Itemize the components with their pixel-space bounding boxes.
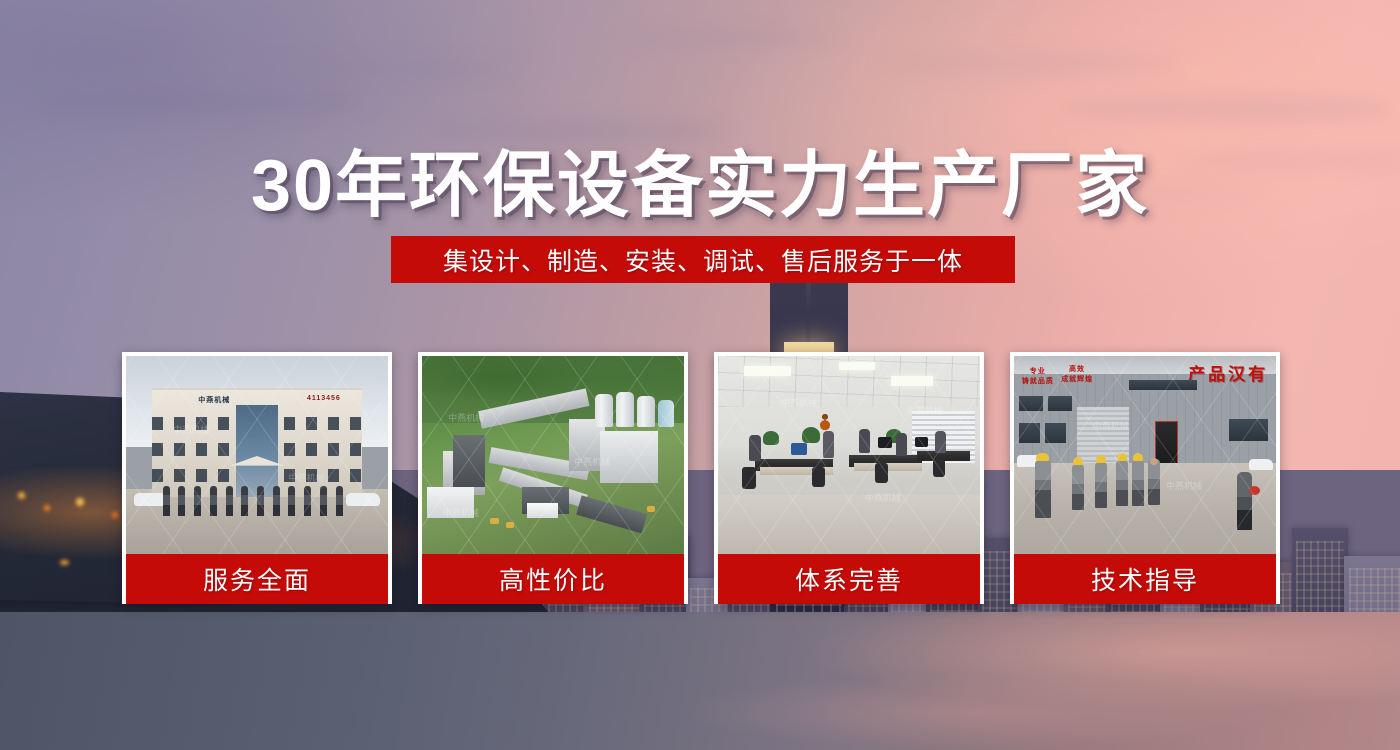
subtitle-text: 集设计、制造、安装、调试、售后服务于一体 (443, 242, 963, 278)
building-company-sign: 中燕机械 (198, 395, 230, 405)
card-caption-bar: 服务全面 (126, 554, 388, 604)
feature-card[interactable]: 中燕机械 4113456 中燕机械 中燕机械 (122, 352, 392, 604)
card-caption-text: 服务全面 (203, 561, 311, 597)
red-helmet (1249, 486, 1260, 495)
card-caption-bar: 体系完善 (718, 554, 980, 604)
card-caption-bar: 高性价比 (422, 554, 684, 604)
card-photo-headquarters: 中燕机械 4113456 中燕机械 中燕机械 (126, 356, 388, 554)
subtitle-banner: 集设计、制造、安装、调试、售后服务于一体 (391, 236, 1015, 283)
card-photo-plant-aerial: 中燕机械 中燕机械 中燕机械 (422, 356, 684, 554)
factory-sign-left2: 铸就品质 (1022, 376, 1054, 386)
page-title: 30年环保设备实力生产厂家 (0, 126, 1400, 231)
promo-banner: 30年环保设备实力生产厂家 集设计、制造、安装、调试、售后服务于一体 中燕机械 … (0, 0, 1400, 750)
card-caption-bar: 技术指导 (1014, 554, 1276, 604)
factory-main-sign: 产品汉有 (1188, 360, 1268, 385)
feature-card[interactable]: 中燕机械 中燕机械 中燕机械 体系完善 (714, 352, 984, 604)
card-caption-text: 高性价比 (499, 561, 607, 597)
feature-card[interactable]: 产品汉有 专业 铸就品质 高效 成就辉煌 (1010, 352, 1280, 604)
card-caption-text: 技术指导 (1091, 561, 1199, 597)
feature-card-row: 中燕机械 4113456 中燕机械 中燕机械 (122, 352, 1285, 604)
card-photo-office: 中燕机械 中燕机械 中燕机械 (718, 356, 980, 554)
building-phone-sign: 4113456 (307, 395, 341, 402)
instructor-figure (1237, 472, 1252, 530)
water-reflection (0, 612, 1400, 750)
card-photo-technical-guidance: 产品汉有 专业 铸就品质 高效 成就辉煌 (1014, 356, 1276, 554)
factory-sign-mid: 高效 (1069, 364, 1085, 374)
card-caption-text: 体系完善 (795, 561, 903, 597)
factory-sign-mid2: 成就辉煌 (1061, 374, 1093, 384)
factory-sign-left: 专业 (1030, 366, 1046, 376)
feature-card[interactable]: 中燕机械 中燕机械 中燕机械 高性价比 (418, 352, 688, 604)
